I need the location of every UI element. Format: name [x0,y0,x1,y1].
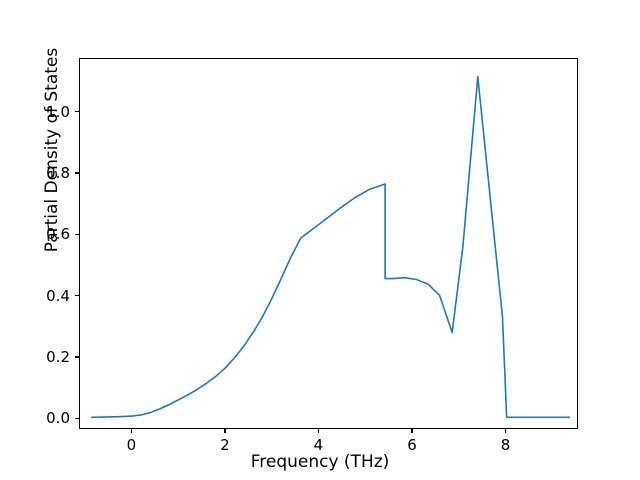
x-tick-label: 4 [314,436,324,454]
x-tick-mark [131,429,132,433]
figure-canvas: Partial Density of States Frequency (THz… [0,0,640,480]
y-tick-label: 0.2 [20,348,70,366]
y-tick-label: 0.8 [20,164,70,182]
x-tick-mark [224,429,225,433]
x-tick-mark [318,429,319,433]
x-tick-label: 8 [501,436,511,454]
x-tick-label: 2 [220,436,230,454]
x-axis-label: Frequency (THz) [0,452,640,472]
x-tick-mark [411,429,412,433]
y-tick-label: 0.4 [20,287,70,305]
dos-curve-line [91,77,570,418]
y-tick-label: 1.0 [20,103,70,121]
y-tick-label: 0.0 [20,409,70,427]
dos-curve-svg [80,59,577,428]
x-tick-mark [505,429,506,433]
plot-area [79,58,578,429]
x-tick-label: 6 [407,436,417,454]
x-tick-label: 0 [127,436,137,454]
y-tick-label: 0.6 [20,225,70,243]
